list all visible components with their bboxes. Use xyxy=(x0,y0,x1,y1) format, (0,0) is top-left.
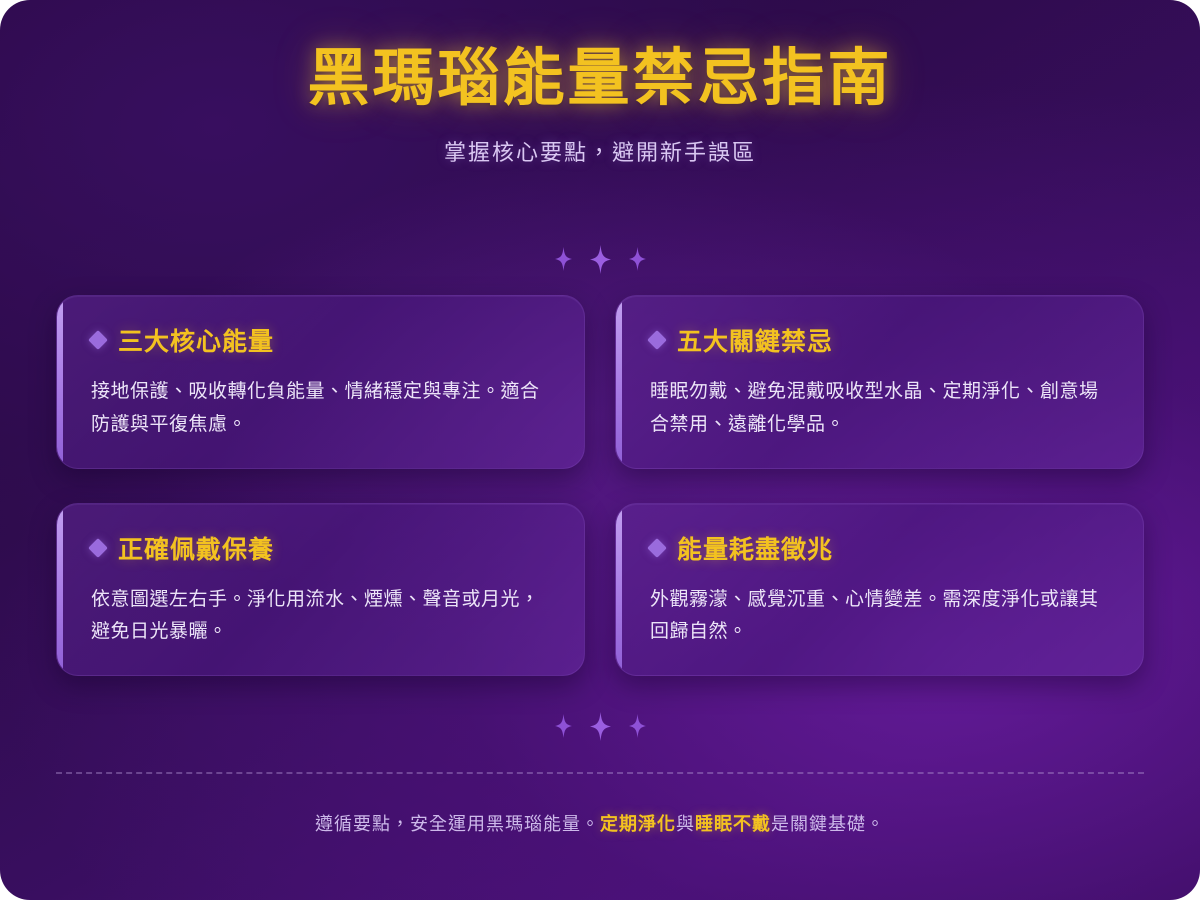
card-body: 接地保護、吸收轉化負能量、情緒穩定與專注。適合防護與平復焦慮。 xyxy=(91,376,554,441)
sparkle-icon xyxy=(555,247,572,271)
sparkle-icon xyxy=(555,714,572,738)
page-subtitle: 掌握核心要點，避開新手誤區 xyxy=(56,135,1144,167)
diamond-icon xyxy=(647,538,667,558)
poster-footer: 遵循要點，安全運用黑瑪瑙能量。定期淨化與睡眠不戴是關鍵基礎。 xyxy=(56,746,1144,900)
footer-highlight-one: 定期淨化 xyxy=(600,814,676,834)
card-header: 正確佩戴保養 xyxy=(91,530,554,566)
info-card: 能量耗盡徵兆 外觀霧濛、感覺沉重、心情變差。需深度淨化或讓其回歸自然。 xyxy=(615,503,1144,676)
info-card: 五大關鍵禁忌 睡眠勿戴、避免混戴吸收型水晶、定期淨化、創意場合禁用、遠離化學品。 xyxy=(615,295,1144,468)
footer-lead: 遵循要點，安全運用黑瑪瑙能量。 xyxy=(315,814,600,834)
footer-tail: 是關鍵基礎。 xyxy=(771,814,885,834)
card-title: 三大核心能量 xyxy=(118,322,274,358)
card-header: 五大關鍵禁忌 xyxy=(650,322,1113,358)
infographic-poster: 黑瑪瑙能量禁忌指南 掌握核心要點，避開新手誤區 三大核心能量 接地保護、吸收 xyxy=(0,0,1200,900)
sparkle-icon xyxy=(590,245,611,274)
card-header: 三大核心能量 xyxy=(91,322,554,358)
footer-connector: 與 xyxy=(676,814,695,834)
card-body: 睡眠勿戴、避免混戴吸收型水晶、定期淨化、創意場合禁用、遠離化學品。 xyxy=(650,376,1113,441)
page-title: 黑瑪瑙能量禁忌指南 xyxy=(56,44,1144,113)
info-card: 三大核心能量 接地保護、吸收轉化負能量、情緒穩定與專注。適合防護與平復焦慮。 xyxy=(56,295,585,468)
sparkle-icon xyxy=(590,712,611,741)
card-grid: 三大核心能量 接地保護、吸收轉化負能量、情緒穩定與專注。適合防護與平復焦慮。 五… xyxy=(56,295,1144,676)
footer-divider xyxy=(56,772,1144,774)
diamond-icon xyxy=(88,538,108,558)
card-body: 依意圖選左右手。淨化用流水、煙燻、聲音或月光，避免日光暴曬。 xyxy=(91,584,554,649)
diamond-icon xyxy=(88,331,108,351)
card-title: 能量耗盡徵兆 xyxy=(677,530,833,566)
card-title: 五大關鍵禁忌 xyxy=(677,322,833,358)
card-header: 能量耗盡徵兆 xyxy=(650,530,1113,566)
footer-summary: 遵循要點，安全運用黑瑪瑙能量。定期淨化與睡眠不戴是關鍵基礎。 xyxy=(56,810,1144,836)
sparkle-icon xyxy=(629,714,646,738)
diamond-icon xyxy=(647,331,667,351)
info-card: 正確佩戴保養 依意圖選左右手。淨化用流水、煙燻、聲音或月光，避免日光暴曬。 xyxy=(56,503,585,676)
footer-highlight-two: 睡眠不戴 xyxy=(695,814,771,834)
sparkle-divider-bottom xyxy=(56,706,1144,746)
card-title: 正確佩戴保養 xyxy=(118,530,274,566)
sparkle-divider-top xyxy=(56,239,1144,279)
card-body: 外觀霧濛、感覺沉重、心情變差。需深度淨化或讓其回歸自然。 xyxy=(650,584,1113,649)
sparkle-icon xyxy=(629,247,646,271)
poster-header: 黑瑪瑙能量禁忌指南 掌握核心要點，避開新手誤區 xyxy=(56,44,1144,167)
